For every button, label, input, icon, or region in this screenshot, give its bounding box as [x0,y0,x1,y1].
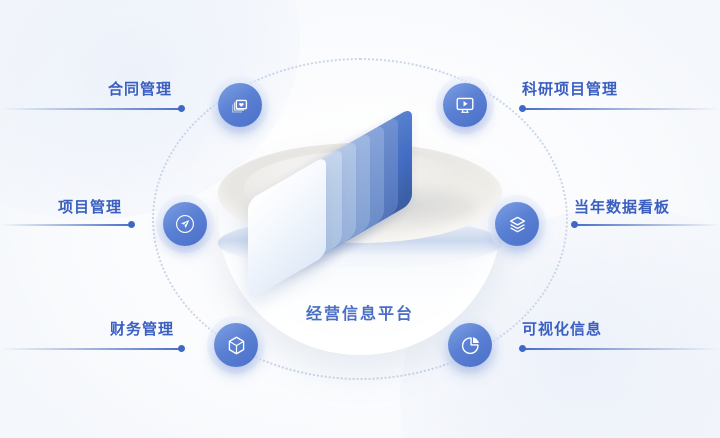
pie-chart-icon [459,334,482,357]
label-visualization-information: 可视化信息 [522,318,602,339]
connector-dot-research-project-management [519,105,526,112]
connector-line-project-management [0,224,132,226]
label-research-project-management: 科研项目管理 [522,78,618,99]
center-platform-label: 经营信息平台 [0,300,720,324]
node-project-management[interactable] [163,202,207,246]
node-visualization-information[interactable] [448,323,492,367]
infographic-stage: 经营信息平台 合同管理 科研项目管理 项目管理 [0,0,720,438]
connector-line-research-project-management [524,108,720,110]
node-current-year-dashboard[interactable] [495,202,539,246]
node-financial-management[interactable] [214,323,258,367]
glass-panel-stack [244,128,424,278]
connector-dot-financial-management [178,345,185,352]
connector-dot-current-year-dashboard [571,221,578,228]
node-research-project-management[interactable] [443,83,487,127]
connector-dot-visualization-information [519,345,526,352]
paper-plane-icon [173,212,197,236]
label-financial-management: 财务管理 [110,318,174,339]
cube-icon [225,334,248,357]
connector-line-visualization-information [524,348,720,350]
connector-line-contract-management [0,108,182,110]
label-current-year-dashboard: 当年数据看板 [574,196,670,217]
connector-dot-contract-management [178,105,185,112]
layers-icon [506,213,529,236]
label-contract-management: 合同管理 [108,78,172,99]
node-contract-management[interactable] [218,83,262,127]
connector-dot-project-management [128,221,135,228]
connector-line-current-year-dashboard [576,224,720,226]
cards-heart-icon [229,94,251,116]
monitor-play-icon [454,94,476,116]
connector-line-financial-management [0,348,182,350]
label-project-management: 项目管理 [58,196,122,217]
